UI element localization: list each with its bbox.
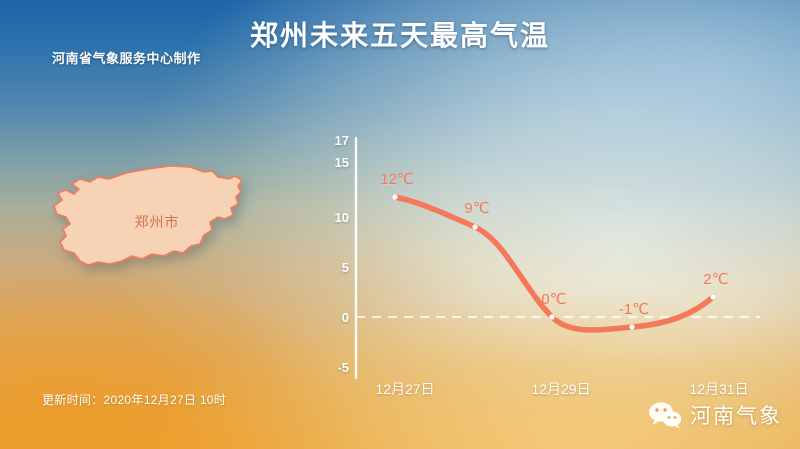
temperature-line <box>395 197 713 330</box>
y-tick-label: 5 <box>315 260 349 275</box>
y-tick-label: 15 <box>315 155 349 170</box>
wechat-icon <box>648 400 682 430</box>
y-tick-label: 0 <box>315 310 349 325</box>
wechat-account-name: 河南气象 <box>690 400 782 430</box>
data-point-label: -1℃ <box>619 300 649 318</box>
update-timestamp: 更新时间：2020年12月27日 10时 <box>42 391 226 408</box>
x-tick-label: 12月29日 <box>531 379 590 399</box>
data-point-label: 12℃ <box>380 170 414 188</box>
data-point-marker <box>710 294 715 299</box>
weather-forecast-graphic: 郑州未来五天最高气温 河南省气象服务中心制作 郑州市 <box>0 0 800 449</box>
x-tick-label: 12月31日 <box>689 379 748 399</box>
data-point-label: 0℃ <box>541 290 566 308</box>
y-tick-label: 10 <box>315 210 349 225</box>
y-tick-label: -5 <box>315 360 349 375</box>
data-point-marker <box>392 194 397 199</box>
y-tick-label: 17 <box>315 133 349 148</box>
data-point-marker <box>549 314 554 319</box>
data-point-marker <box>472 224 477 229</box>
temperature-chart: 17 15 10 5 0 -5 12月27日 12月29日 12月31日 12℃… <box>0 0 800 449</box>
wechat-watermark: 河南气象 <box>648 400 782 430</box>
data-point-label: 2℃ <box>703 270 728 288</box>
data-point-label: 9℃ <box>464 199 489 217</box>
data-point-marker <box>629 324 634 329</box>
x-tick-label: 12月27日 <box>375 379 434 399</box>
